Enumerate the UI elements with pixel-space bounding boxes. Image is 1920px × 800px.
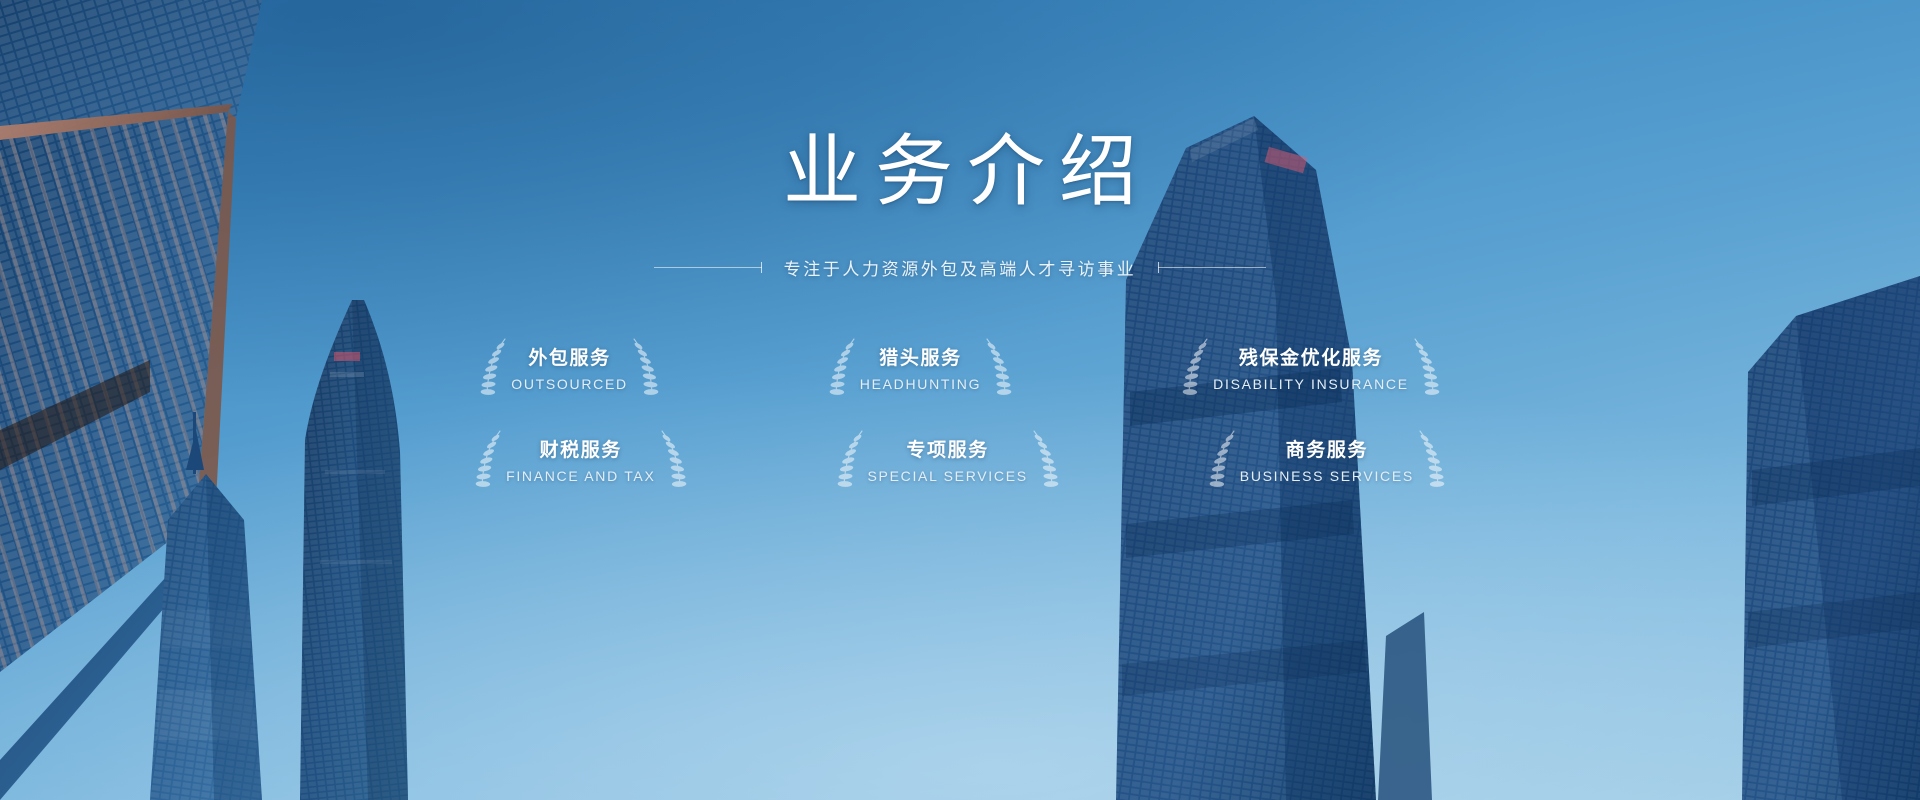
- service-item-outsourced[interactable]: 外包服务 OUTSOURCED: [443, 336, 696, 398]
- laurel-branch-right-icon: [656, 428, 690, 490]
- laurel-branch-right-icon: [1028, 428, 1062, 490]
- laurel-branch-left-icon: [477, 336, 511, 398]
- laurel-branch-left-icon: [1179, 336, 1213, 398]
- subtitle-row: 专注于人力资源外包及高端人才寻访事业: [654, 255, 1267, 280]
- service-title-cn: 残保金优化服务: [1239, 343, 1383, 370]
- service-labels: 残保金优化服务 DISABILITY INSURANCE: [1213, 343, 1409, 392]
- service-item-business-services[interactable]: 商务服务 BUSINESS SERVICES: [1172, 428, 1482, 490]
- service-title-cn: 专项服务: [906, 435, 988, 462]
- service-title-cn: 财税服务: [540, 435, 622, 462]
- service-title-en: OUTSOURCED: [511, 376, 628, 392]
- service-title-en: FINANCE AND TAX: [506, 468, 655, 484]
- laurel-branch-left-icon: [1206, 428, 1240, 490]
- divider-rule-right: [1158, 267, 1266, 268]
- banner-content: 业务介绍 专注于人力资源外包及高端人才寻访事业: [0, 0, 1920, 800]
- laurel-branch-left-icon: [472, 428, 506, 490]
- service-labels: 外包服务 OUTSOURCED: [511, 343, 628, 392]
- page-subtitle: 专注于人力资源外包及高端人才寻访事业: [784, 255, 1137, 280]
- service-title-en: BUSINESS SERVICES: [1240, 468, 1414, 484]
- laurel-branch-right-icon: [1414, 428, 1448, 490]
- service-title-cn: 猎头服务: [879, 343, 961, 370]
- service-item-special-services[interactable]: 专项服务 SPECIAL SERVICES: [800, 428, 1096, 490]
- service-item-disability-insurance[interactable]: 残保金优化服务 DISABILITY INSURANCE: [1145, 336, 1477, 398]
- service-labels: 商务服务 BUSINESS SERVICES: [1240, 435, 1414, 484]
- laurel-branch-right-icon: [1409, 336, 1443, 398]
- service-labels: 财税服务 FINANCE AND TAX: [506, 435, 655, 484]
- service-labels: 专项服务 SPECIAL SERVICES: [868, 435, 1028, 484]
- services-grid: 外包服务 OUTSOURCED: [438, 336, 1482, 490]
- service-item-headhunting[interactable]: 猎头服务 HEADHUNTING: [792, 336, 1049, 398]
- service-title-en: DISABILITY INSURANCE: [1213, 376, 1409, 392]
- services-row-1: 外包服务 OUTSOURCED: [438, 336, 1482, 398]
- divider-rule-left: [654, 267, 762, 268]
- service-item-finance-and-tax[interactable]: 财税服务 FINANCE AND TAX: [438, 428, 723, 490]
- page-title: 业务介绍: [769, 132, 1151, 213]
- service-title-cn: 外包服务: [528, 343, 610, 370]
- laurel-branch-right-icon: [628, 336, 662, 398]
- laurel-branch-left-icon: [834, 428, 868, 490]
- service-title-en: SPECIAL SERVICES: [868, 468, 1028, 484]
- hero-banner: 业务介绍 专注于人力资源外包及高端人才寻访事业: [0, 0, 1920, 800]
- laurel-branch-left-icon: [826, 336, 860, 398]
- services-row-2: 财税服务 FINANCE AND TAX: [438, 428, 1482, 490]
- service-labels: 猎头服务 HEADHUNTING: [860, 343, 981, 392]
- service-title-en: HEADHUNTING: [860, 376, 981, 392]
- laurel-branch-right-icon: [981, 336, 1015, 398]
- service-title-cn: 商务服务: [1286, 435, 1368, 462]
